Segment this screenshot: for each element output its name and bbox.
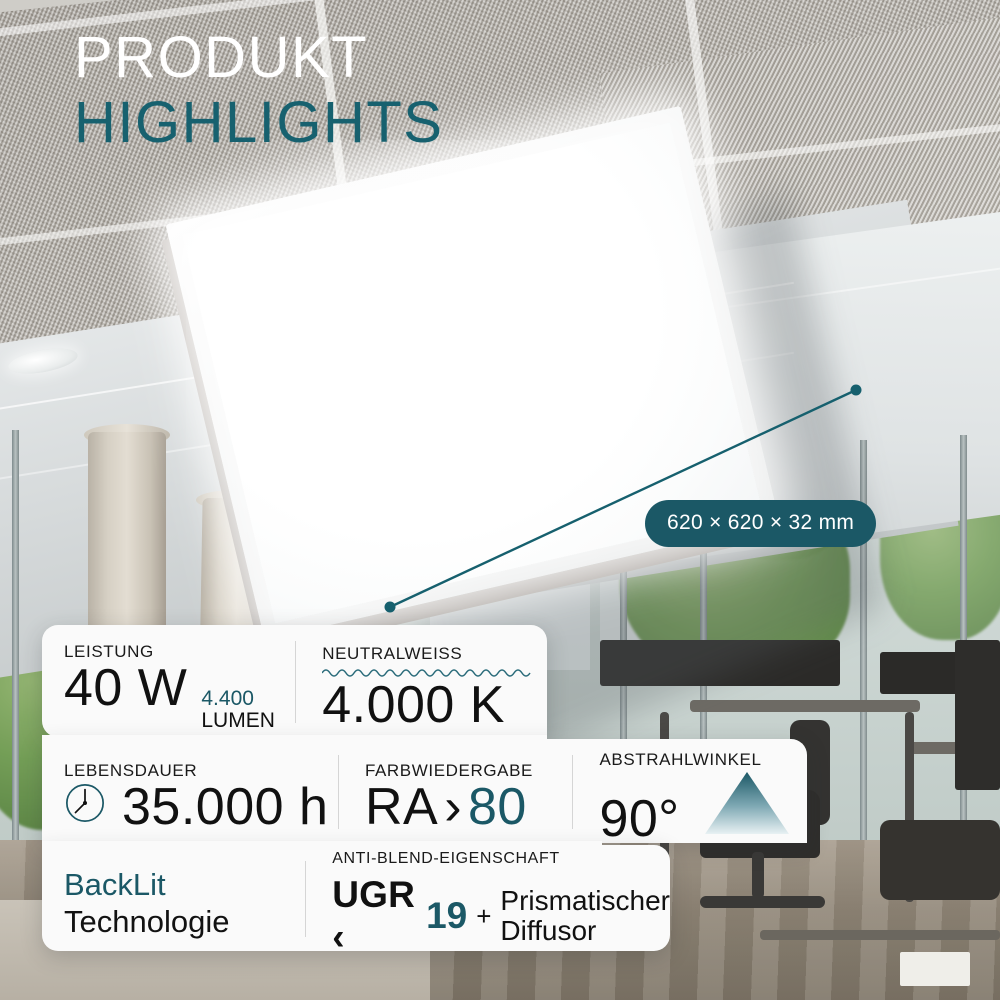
spec-ugr-label: UGR ‹ [332, 874, 417, 958]
spec-antiblend-label: ANTI-BLEND-EIGENSCHAFT [332, 850, 670, 868]
spec-backlit-line-1: BackLit [64, 867, 305, 904]
spec-abstrahlwinkel-value: 90° [599, 793, 679, 845]
spec-card: LEISTUNG 40 W 4.400 LUMEN NEUTRALWEISS 4… [42, 625, 807, 951]
page-title: PRODUKT HIGHLIGHTS [74, 30, 444, 152]
spec-ra-number: 80 [468, 781, 527, 833]
spec-antiblend: ANTI-BLEND-EIGENSCHAFT UGR ‹ 19 + Prisma… [306, 845, 670, 951]
spec-diffuser-line-2: Diffusor [500, 915, 596, 946]
spec-ugr-value: 19 [426, 895, 467, 937]
spec-lebensdauer-value: 35.000 h [122, 781, 328, 833]
office-chair [880, 820, 1000, 900]
paper-stack [900, 952, 970, 986]
spec-abstrahlwinkel-label: ABSTRAHLWINKEL [599, 750, 807, 770]
spec-farbwiedergabe: FARBWIEDERGABE RA › 80 [339, 739, 573, 843]
spec-leistung-value: 40 W [64, 662, 187, 714]
spec-row-2: LEBENSDAUER 35.000 h FARBWIEDERGABE RA [42, 739, 807, 843]
headline-line-1: PRODUKT [74, 30, 444, 87]
spec-diffuser-text: Prismatischer Diffusor [500, 886, 670, 946]
spec-neutralweiss-label: NEUTRALWEISS [322, 644, 547, 664]
spec-neutralweiss-value: 4.000 K [322, 679, 547, 731]
wavy-line-icon [322, 667, 536, 677]
spec-ra-prefix: RA [365, 781, 438, 833]
product-highlight-graphic: 620 × 620 × 32 mm PRODUKT HIGHLIGHTS LEI… [0, 0, 1000, 1000]
clock-icon [64, 782, 106, 824]
headline-line-2: HIGHLIGHTS [74, 95, 444, 152]
spec-row-3: BackLit Technologie ANTI-BLEND-EIGENSCHA… [42, 845, 670, 951]
spec-plus-sign: + [476, 901, 491, 932]
spec-abstrahlwinkel: ABSTRAHLWINKEL 90° [573, 739, 807, 843]
spec-lumen: 4.400 LUMEN [201, 688, 275, 732]
spec-backlit: BackLit Technologie [42, 845, 305, 951]
spec-neutralweiss: NEUTRALWEISS 4.000 K [296, 625, 547, 737]
window-mullion [12, 430, 19, 850]
spec-lumen-value: 4.400 [201, 688, 275, 710]
spec-lebensdauer: LEBENSDAUER 35.000 h [42, 739, 338, 843]
spec-backlit-line-2: Technologie [64, 904, 305, 941]
spec-leistung: LEISTUNG 40 W 4.400 LUMEN [42, 625, 295, 737]
beam-triangle-icon [704, 770, 790, 836]
spec-diffuser-line-1: Prismatischer [500, 885, 670, 916]
spec-row-1: LEISTUNG 40 W 4.400 LUMEN NEUTRALWEISS 4… [42, 625, 547, 737]
dimension-badge: 620 × 620 × 32 mm [645, 500, 876, 547]
office-divider [955, 640, 1000, 790]
spec-lumen-unit: LUMEN [201, 710, 275, 732]
spec-ra-operator: › [444, 781, 462, 833]
